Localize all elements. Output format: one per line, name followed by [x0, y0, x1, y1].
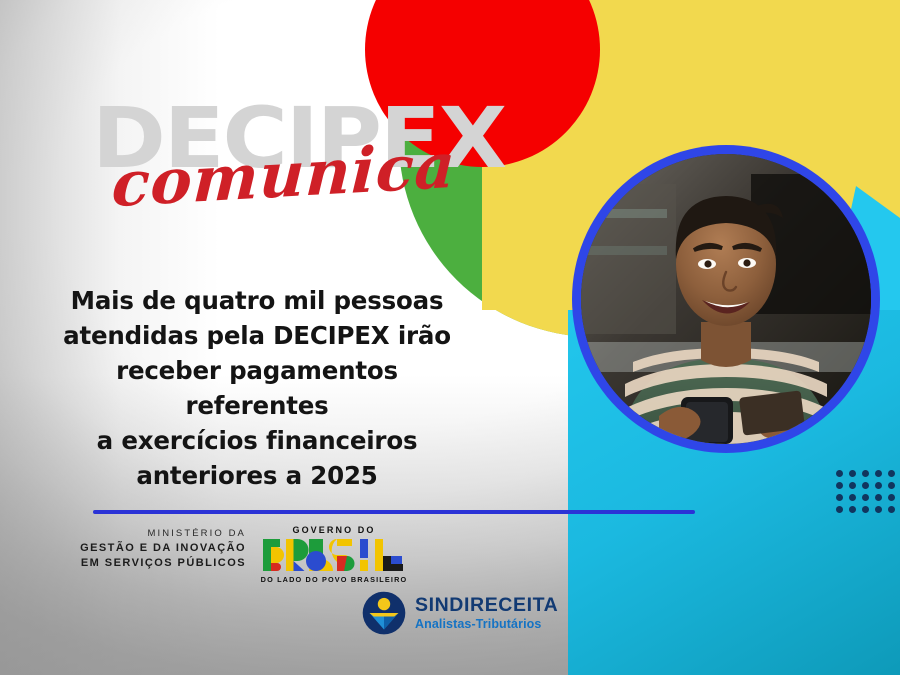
sindireceita-logo: SINDIRECEITA Analistas-Tributários: [362, 590, 558, 636]
headline-line-2: atendidas pela DECIPEX irão: [42, 318, 472, 353]
governo-label: GOVERNO DO: [260, 524, 408, 536]
sindireceita-name: SINDIRECEITA: [415, 596, 558, 616]
brasil-tagline: DO LADO DO POVO BRASILEIRO: [260, 574, 408, 585]
headline-line-4: a exercícios financeiros: [42, 423, 472, 458]
poster-canvas: DECIPEX comunica Mais de quatro mil pess…: [0, 0, 900, 675]
government-logo-lockup: MINISTÉRIO DA GESTÃO E DA INOVAÇÃO EM SE…: [78, 524, 408, 588]
brand-subtitle: comunica: [110, 135, 457, 216]
sindireceita-emblem-icon: [362, 591, 406, 635]
brasil-wordmark-icon: [262, 538, 406, 572]
brand-wordmark: DECIPEX comunica: [92, 96, 422, 228]
headline: Mais de quatro mil pessoas atendidas pel…: [42, 283, 472, 493]
dot-grid-decoration: [836, 470, 900, 518]
photo-portrait: [581, 154, 871, 444]
headline-line-1: Mais de quatro mil pessoas: [42, 283, 472, 318]
sindireceita-text: SINDIRECEITA Analistas-Tributários: [415, 596, 558, 630]
photo-ring: [572, 145, 880, 453]
sindireceita-subtitle: Analistas-Tributários: [415, 618, 558, 631]
blue-divider-line: [93, 510, 695, 514]
headline-line-5: anteriores a 2025: [42, 458, 472, 493]
governo-do-brasil-logo: GOVERNO DO: [260, 524, 408, 585]
ministry-logo: MINISTÉRIO DA GESTÃO E DA INOVAÇÃO EM SE…: [78, 527, 246, 571]
headline-line-3: receber pagamentos referentes: [42, 353, 472, 423]
ministry-line-3: EM SERVIÇOS PÚBLICOS: [78, 556, 246, 571]
portrait-illustration: [581, 154, 871, 444]
ministry-line-1: MINISTÉRIO DA: [78, 527, 246, 541]
ministry-line-2: GESTÃO E DA INOVAÇÃO: [78, 541, 246, 556]
